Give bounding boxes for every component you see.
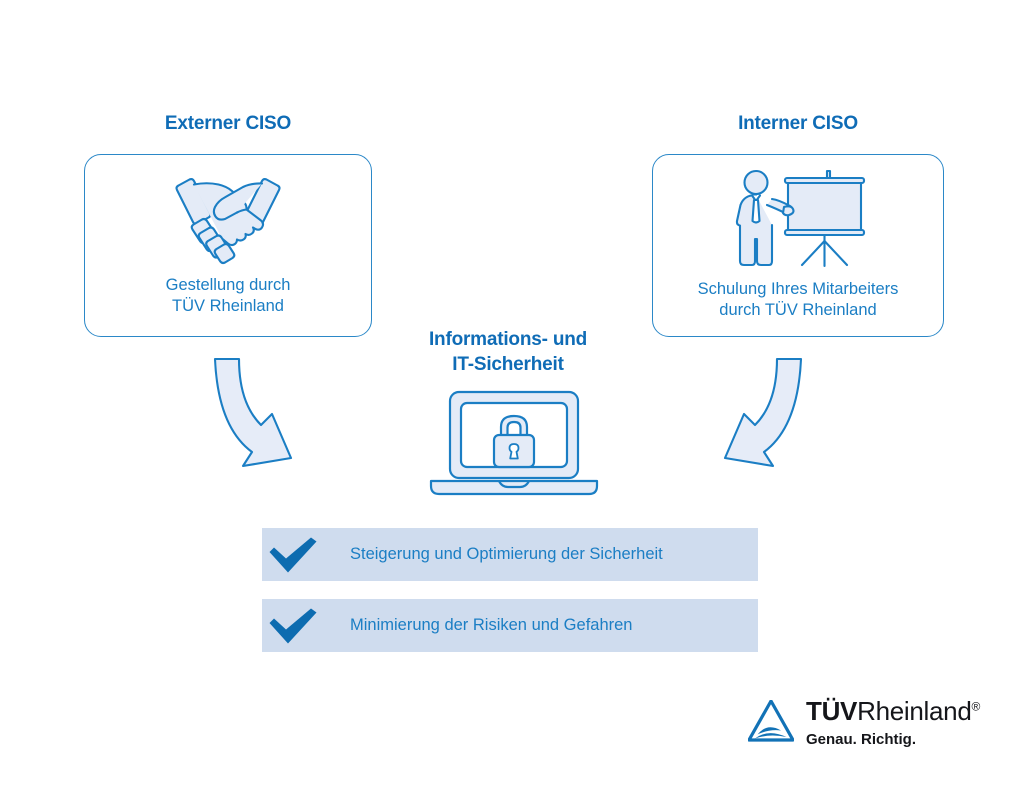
registered-trademark-icon: ® — [972, 699, 981, 713]
right-column-heading: Interner CISO — [653, 113, 943, 135]
checkmark-icon — [262, 607, 324, 645]
logo-wordmark: TÜVRheinland® — [806, 698, 980, 724]
left-column-heading: Externer CISO — [88, 113, 368, 135]
card-externer-ciso: Gestellung durch TÜV Rheinland — [84, 154, 372, 337]
presenter-whiteboard-icon — [728, 169, 868, 269]
laptop-lock-icon — [428, 389, 600, 497]
logo-tagline: Genau. Richtig. — [806, 732, 980, 747]
benefit-row: Steigerung und Optimierung der Sicherhei… — [262, 528, 758, 581]
card-externer-ciso-text: Gestellung durch TÜV Rheinland — [166, 275, 291, 317]
tuv-rheinland-logo: TÜVRheinland® Genau. Richtig. — [748, 698, 980, 747]
logo-word-tuv: TÜV — [806, 696, 857, 726]
benefit-row: Minimierung der Risiken und Gefahren — [262, 599, 758, 652]
infographic-canvas: Externer CISO — [0, 0, 1024, 800]
handshake-icon — [158, 169, 298, 265]
checkmark-icon — [262, 536, 324, 574]
card-interner-ciso-text: Schulung Ihres Mitarbeiters durch TÜV Rh… — [698, 279, 899, 321]
card-interner-ciso: Schulung Ihres Mitarbeiters durch TÜV Rh… — [652, 154, 944, 337]
benefit-label: Steigerung und Optimierung der Sicherhei… — [324, 545, 663, 564]
center-heading: Informations- und IT-Sicherheit — [396, 327, 620, 378]
benefit-label: Minimierung der Risiken und Gefahren — [324, 616, 632, 635]
logo-word-rheinland: Rheinland — [857, 696, 971, 726]
tuv-rheinland-triangle-icon — [748, 700, 794, 742]
curved-arrow-down-right-icon — [198, 357, 310, 475]
curved-arrow-down-left-icon — [706, 357, 818, 475]
